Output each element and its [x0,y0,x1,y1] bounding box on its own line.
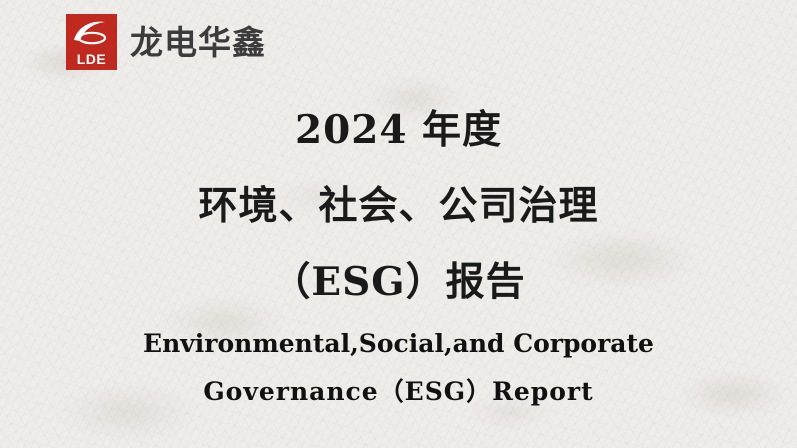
title-line-3: （ESG）报告 [0,244,797,320]
title-en-line-2: Governance（ESG）Report [0,368,797,416]
logo-swoosh-icon [72,19,111,45]
brand-logo-block: LDE 龙电华鑫 [66,14,266,70]
logo-mark-text: LDE [77,52,107,67]
lde-logo-icon: LDE [66,14,117,70]
title-en-line-1: Environmental,Social,and Corporate [0,320,797,368]
title-line-2: 环境、社会、公司治理 [0,168,797,244]
title-line-1: 2024 年度 [0,92,797,168]
esg-report-cover-page: LDE 龙电华鑫 2024 年度 环境、社会、公司治理 （ESG）报告 Envi… [0,0,797,448]
company-name-cn: 龙电华鑫 [130,26,266,59]
cover-title-area: 2024 年度 环境、社会、公司治理 （ESG）报告 Environmental… [0,92,797,416]
